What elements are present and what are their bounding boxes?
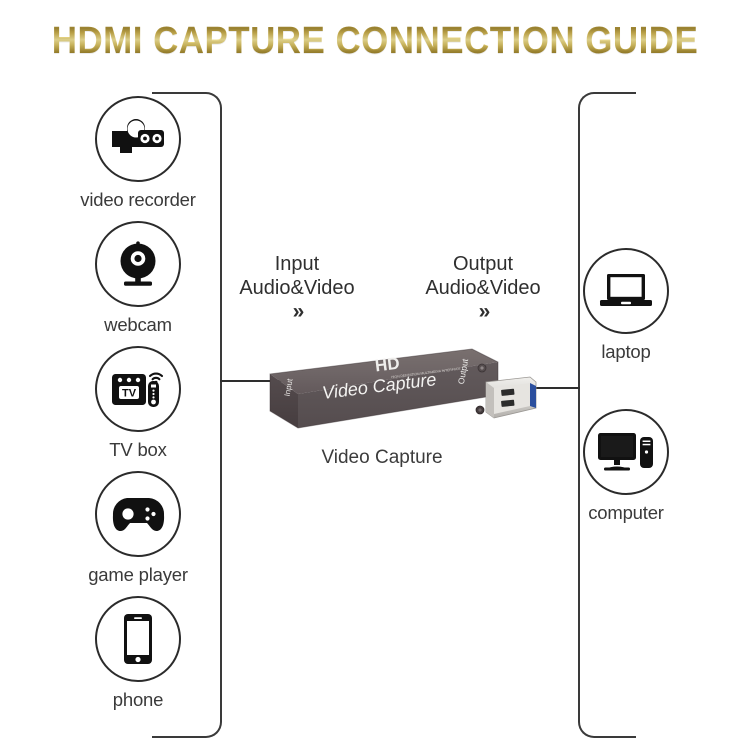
svg-text:TV: TV [122,387,137,399]
tv-box-icon-circle: TV [95,346,181,432]
output-flow-line2: Audio&Video [416,276,550,300]
source-device-column: video recorder webcam [63,96,213,721]
phone-icon [120,612,156,666]
capture-dongle-illustration: HD HIGH DEFINITION MULTIMEDIA INTERFACE … [258,332,544,450]
source-item-game-player[interactable]: game player [88,471,188,586]
gamepad-icon-circle [95,471,181,557]
source-item-video-recorder[interactable]: video recorder [80,96,195,211]
destination-item-computer[interactable]: computer [583,409,669,524]
input-flow-label: Input Audio&Video » [232,252,362,322]
source-item-label: video recorder [80,189,195,211]
video-capture-device-image: HD HIGH DEFINITION MULTIMEDIA INTERFACE … [258,332,544,450]
output-flow-line1: Output [416,252,550,276]
webcam-icon [111,239,165,289]
source-item-label: TV box [109,439,166,461]
page-title: HDMI CAPTURE CONNECTION GUIDE [30,20,720,63]
source-item-webcam[interactable]: webcam [95,221,181,336]
destination-item-label: computer [588,502,664,524]
input-arrow-icon: » [232,302,362,322]
camcorder-icon-circle [95,96,181,182]
destination-item-laptop[interactable]: laptop [583,248,669,363]
source-item-label: game player [88,564,188,586]
output-arrow-icon: » [416,302,550,322]
input-flow-line2: Audio&Video [232,276,362,300]
input-flow-line1: Input [232,252,362,276]
device-brand-text: HD [374,354,401,376]
laptop-icon-circle [583,248,669,334]
device-caption: Video Capture [262,447,502,469]
source-item-label: phone [113,689,163,711]
source-item-label: webcam [104,314,172,336]
gamepad-icon [109,494,167,534]
desktop-computer-icon-circle [583,409,669,495]
source-item-phone[interactable]: phone [95,596,181,711]
phone-icon-circle [95,596,181,682]
tv-box-icon: TV [110,365,166,413]
output-flow-label: Output Audio&Video » [416,252,550,322]
infographic-canvas: HDMI CAPTURE CONNECTION GUIDE video reco… [0,0,750,750]
webcam-icon-circle [95,221,181,307]
desktop-computer-icon [596,430,656,474]
destination-item-label: laptop [601,341,650,363]
destination-device-column: laptop computer [551,248,701,570]
camcorder-icon [110,118,166,160]
source-item-tv-box[interactable]: TV TV box [95,346,181,461]
laptop-icon [598,271,654,311]
